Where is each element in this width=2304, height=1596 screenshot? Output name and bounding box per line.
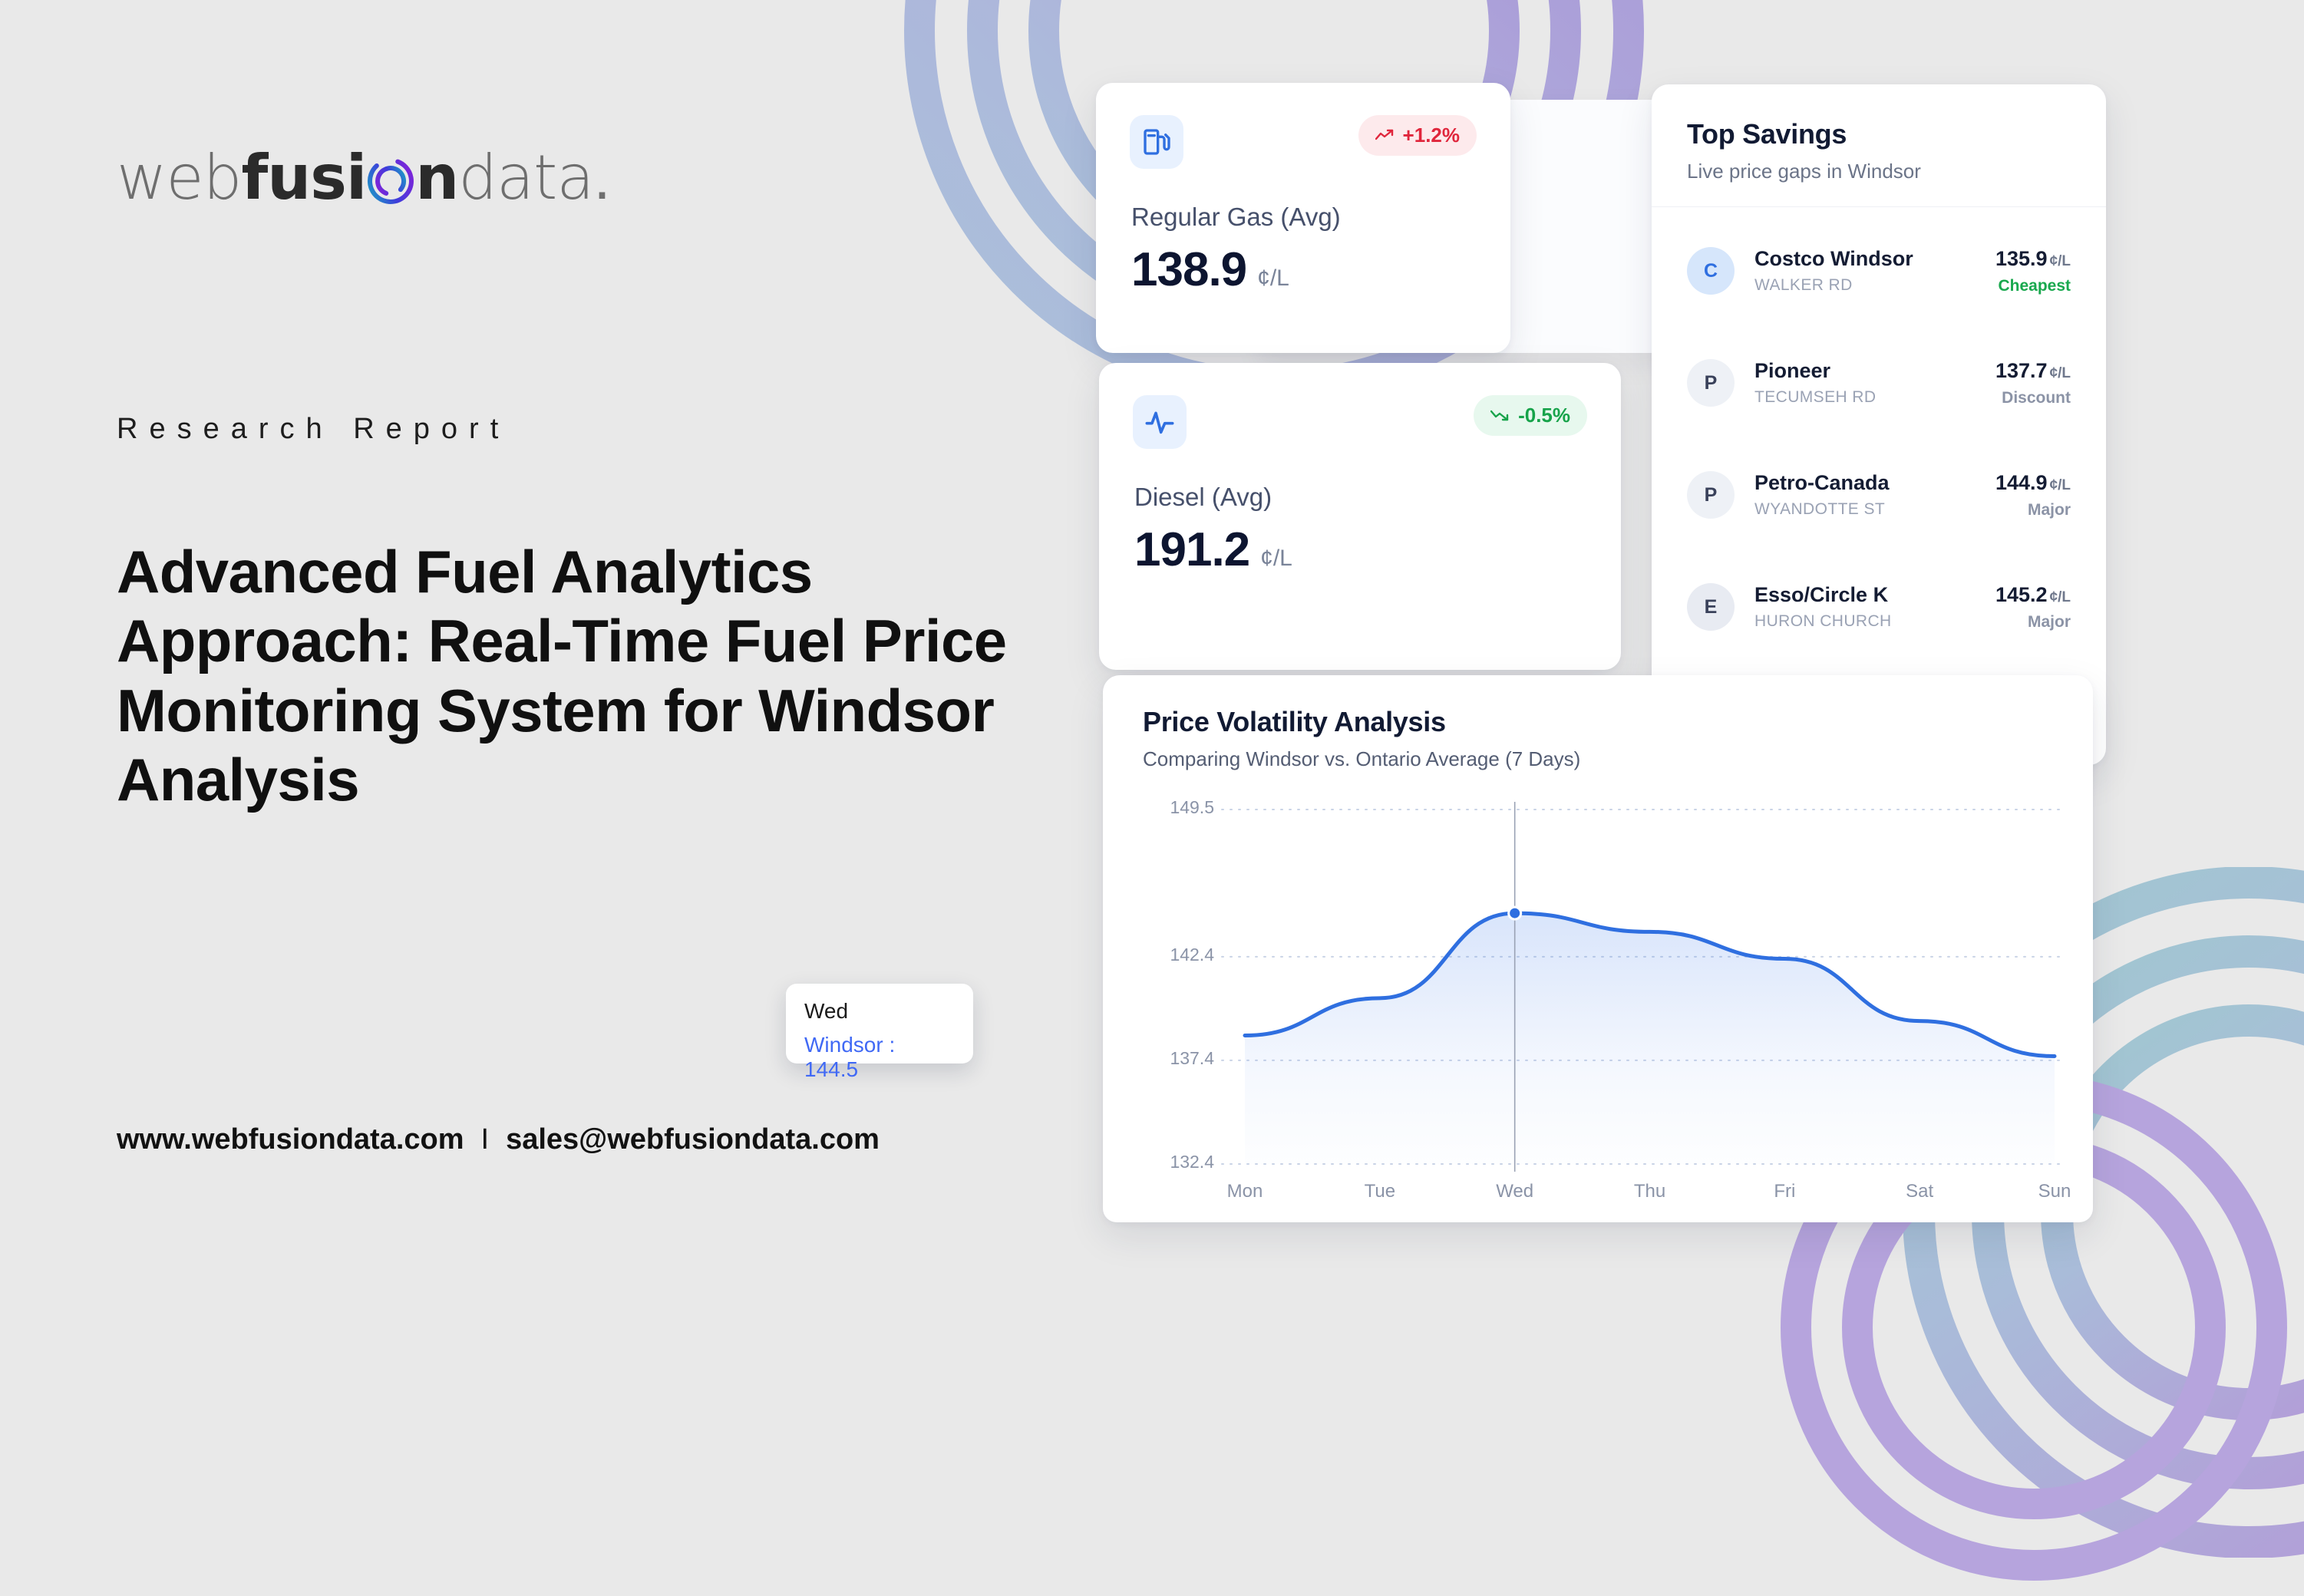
chart-highlight-dot [1509, 907, 1521, 919]
station-price-unit: ¢/L [2050, 253, 2071, 269]
station-price-unit: ¢/L [2050, 477, 2071, 493]
kpi-card-diesel[interactable]: -0.5% Diesel (Avg) 191.2 ¢/L [1099, 363, 1621, 670]
tooltip-day: Wed [804, 999, 955, 1024]
trending-up-icon [1375, 124, 1395, 147]
logo-text-n: n [415, 147, 458, 209]
status-badge: Cheapest [1995, 277, 2071, 295]
chart-x-tick-label: Fri [1738, 1181, 1830, 1202]
status-badge: Discount [1995, 389, 2071, 407]
kpi-card-header: +1.2% [1096, 83, 1510, 169]
page-title: Advanced Fuel Analytics Approach: Real-T… [117, 537, 1022, 815]
trending-down-icon [1490, 404, 1510, 427]
station-name: Petro-Canada [1754, 471, 1995, 495]
station-price-block: 145.2¢/L Major [1995, 583, 2071, 631]
kpi-badge-label: -0.5% [1518, 404, 1570, 427]
list-item[interactable]: C Costco Windsor WALKER RD 135.9¢/L Chea… [1687, 215, 2071, 327]
status-badge-diesel-change: -0.5% [1474, 395, 1587, 436]
kpi-card-header: -0.5% [1099, 363, 1621, 449]
station-price-block: 135.9¢/L Cheapest [1995, 247, 2071, 295]
chart-header: Price Volatility Analysis Comparing Wind… [1103, 675, 2093, 771]
station-address: WALKER RD [1754, 276, 1995, 295]
station-price-block: 137.7¢/L Discount [1995, 359, 2071, 407]
chart-area-fill [1245, 913, 2055, 1164]
top-savings-header: Top Savings Live price gaps in Windsor [1652, 84, 2106, 207]
logo-text-data: data [458, 147, 593, 209]
station-price-unit: ¢/L [2050, 365, 2071, 381]
kpi-label-diesel: Diesel (Avg) [1099, 449, 1621, 512]
chart-svg [1103, 796, 2093, 1225]
logo-text-fusi: fusi [241, 147, 366, 209]
station-address: TECUMSEH RD [1754, 388, 1995, 407]
kpi-label-regular-gas: Regular Gas (Avg) [1096, 169, 1510, 232]
report-type-label: Research Report [117, 413, 510, 446]
chart-y-tick-label: 149.5 [1145, 797, 1214, 818]
station-price-unit: ¢/L [2050, 589, 2071, 605]
chart-x-tick-label: Sun [2009, 1181, 2101, 1202]
kpi-value-regular-gas: 138.9 [1131, 242, 1246, 297]
kpi-value-block: 191.2 ¢/L [1099, 512, 1621, 577]
chart-y-tick-label: 142.4 [1145, 945, 1214, 965]
station-info: Pioneer TECUMSEH RD [1735, 359, 1995, 407]
fuel-pump-icon [1130, 115, 1183, 169]
station-address: WYANDOTTE ST [1754, 500, 1995, 519]
avatar: C [1687, 247, 1735, 295]
tooltip-value: Windsor : 144.5 [804, 1033, 955, 1082]
avatar: P [1687, 359, 1735, 407]
top-savings-subtitle: Live price gaps in Windsor [1687, 160, 2071, 183]
report-cover-left-column: web fusi n data . Research Report Advanc… [117, 0, 1114, 1296]
list-item[interactable]: P Petro-Canada WYANDOTTE ST 144.9¢/L Maj… [1687, 439, 2071, 551]
station-address: HURON CHURCH [1754, 612, 1995, 631]
chart-x-tick-label: Wed [1469, 1181, 1561, 1202]
price-volatility-chart-panel[interactable]: Price Volatility Analysis Comparing Wind… [1103, 675, 2093, 1222]
logo-text-web: web [117, 147, 241, 209]
kpi-value-block: 138.9 ¢/L [1096, 232, 1510, 297]
footer-email[interactable]: sales@webfusiondata.com [506, 1123, 880, 1156]
top-savings-title: Top Savings [1687, 118, 2071, 150]
activity-pulse-icon [1133, 395, 1187, 449]
status-badge-gas-change: +1.2% [1358, 115, 1477, 156]
brand-logo: web fusi n data . [117, 143, 611, 213]
chart-tooltip: Wed Windsor : 144.5 [786, 984, 973, 1063]
footer-website[interactable]: www.webfusiondata.com [117, 1123, 464, 1156]
station-price: 135.9 [1995, 247, 2048, 270]
station-price: 145.2 [1995, 583, 2048, 606]
chart-y-tick-label: 132.4 [1145, 1152, 1214, 1172]
station-name: Esso/Circle K [1754, 583, 1995, 607]
station-name: Costco Windsor [1754, 247, 1995, 271]
gradient-ring-icon [367, 157, 414, 205]
station-info: Esso/Circle K HURON CHURCH [1735, 583, 1995, 631]
avatar-initial: C [1704, 260, 1718, 282]
station-name: Pioneer [1754, 359, 1995, 383]
list-item[interactable]: E Esso/Circle K HURON CHURCH 145.2¢/L Ma… [1687, 551, 2071, 663]
chart-x-tick-label: Mon [1199, 1181, 1291, 1202]
chart-x-tick-label: Thu [1604, 1181, 1696, 1202]
kpi-unit-regular-gas: ¢/L [1257, 265, 1289, 292]
top-savings-panel[interactable]: Top Savings Live price gaps in Windsor C… [1652, 84, 2106, 765]
station-price: 144.9 [1995, 471, 2048, 494]
station-info: Petro-Canada WYANDOTTE ST [1735, 471, 1995, 519]
chart-x-tick-label: Tue [1334, 1181, 1426, 1202]
avatar-initial: E [1705, 596, 1718, 618]
station-price: 137.7 [1995, 359, 2048, 382]
avatar-initial: P [1705, 372, 1718, 394]
chart-plot-area: 149.5142.4137.4132.4 MonTueWedThuFriSatS… [1103, 796, 2093, 1225]
logo-period: . [593, 143, 610, 213]
status-badge: Major [1995, 613, 2071, 631]
chart-y-tick-label: 137.4 [1145, 1048, 1214, 1069]
avatar: E [1687, 583, 1735, 631]
kpi-value-diesel: 191.2 [1134, 523, 1249, 577]
footer-separator: I [464, 1123, 507, 1156]
footer-contact: www.webfusiondata.comIsales@webfusiondat… [117, 1123, 880, 1156]
avatar-initial: P [1705, 484, 1718, 506]
avatar: P [1687, 471, 1735, 519]
kpi-badge-label: +1.2% [1403, 124, 1460, 147]
chart-x-tick-label: Sat [1873, 1181, 1966, 1202]
status-badge: Major [1995, 501, 2071, 519]
list-item[interactable]: P Pioneer TECUMSEH RD 137.7¢/L Discount [1687, 327, 2071, 439]
station-price-block: 144.9¢/L Major [1995, 471, 2071, 519]
chart-title: Price Volatility Analysis [1143, 706, 2093, 738]
station-info: Costco Windsor WALKER RD [1735, 247, 1995, 295]
kpi-unit-diesel: ¢/L [1260, 546, 1292, 572]
kpi-card-regular-gas[interactable]: +1.2% Regular Gas (Avg) 138.9 ¢/L [1096, 83, 1510, 353]
chart-subtitle: Comparing Windsor vs. Ontario Average (7… [1143, 747, 2093, 771]
